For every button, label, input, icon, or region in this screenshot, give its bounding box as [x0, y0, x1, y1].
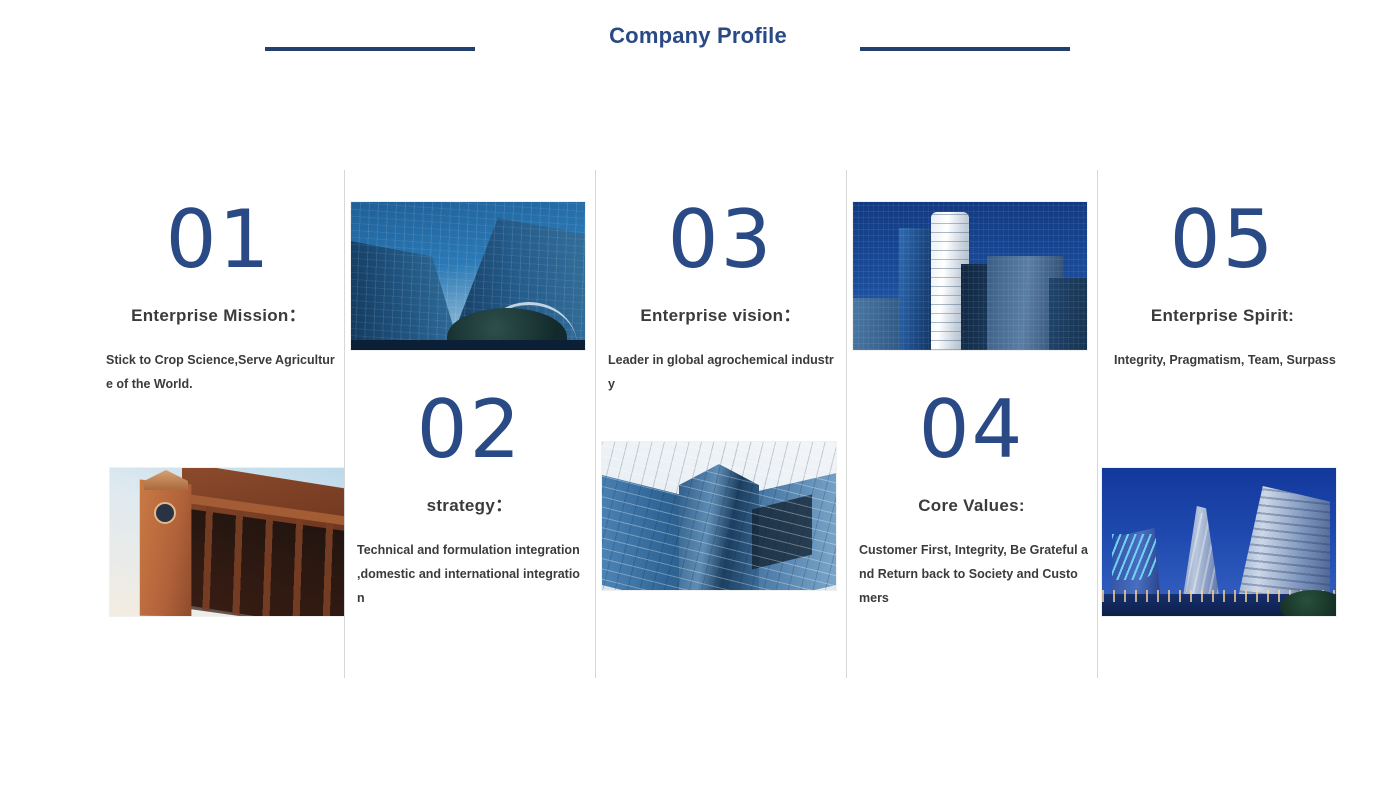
- profile-column-04: 04 Core Values: Customer First, Integrit…: [849, 170, 1094, 678]
- profile-column-03: 03 Enterprise vision： Leader in global a…: [598, 170, 843, 678]
- column-number: 05: [1100, 192, 1345, 288]
- column-text-block: 03 Enterprise vision： Leader in global a…: [598, 192, 843, 396]
- column-body: Stick to Crop Science,Serve Agriculture …: [96, 348, 341, 396]
- column-text-block: 02 strategy： Technical and formulation i…: [347, 382, 592, 610]
- profile-column-01: 01 Enterprise Mission： Stick to Crop Sci…: [96, 170, 341, 678]
- column-number: 02: [347, 382, 592, 478]
- column-divider: [1097, 170, 1098, 678]
- column-heading: Enterprise vision：: [598, 304, 843, 328]
- column-number: 03: [598, 192, 843, 288]
- column-divider: [595, 170, 596, 678]
- column-body: Technical and formulation integration ,d…: [347, 538, 592, 610]
- column-text-block: 01 Enterprise Mission： Stick to Crop Sci…: [96, 192, 341, 396]
- column-divider: [344, 170, 345, 678]
- column-heading: strategy：: [347, 494, 592, 518]
- profile-column-05: 05 Enterprise Spirit: Integrity, Pragmat…: [1100, 170, 1345, 678]
- brick-clock-tower-photo: [110, 468, 344, 616]
- column-body: Integrity, Pragmatism, Team, Surpass: [1100, 348, 1345, 372]
- column-body: Leader in global agrochemical industry: [598, 348, 843, 396]
- column-body: Customer First, Integrity, Be Grateful a…: [849, 538, 1094, 610]
- column-heading: Core Values:: [849, 494, 1094, 518]
- column-text-block: 05 Enterprise Spirit: Integrity, Pragmat…: [1100, 192, 1345, 372]
- twin-glass-towers-photo: [351, 202, 585, 350]
- glass-facade-corner-photo: [602, 442, 836, 590]
- column-number: 04: [849, 382, 1094, 478]
- column-divider: [846, 170, 847, 678]
- profile-column-02: 02 strategy： Technical and formulation i…: [347, 170, 592, 678]
- profile-columns: 01 Enterprise Mission： Stick to Crop Sci…: [96, 170, 1346, 678]
- column-heading: Enterprise Mission：: [96, 304, 341, 328]
- city-skyline-twisted-tower-photo: [853, 202, 1087, 350]
- column-text-block: 04 Core Values: Customer First, Integrit…: [849, 382, 1094, 610]
- column-number: 01: [96, 192, 341, 288]
- column-heading: Enterprise Spirit:: [1100, 304, 1345, 328]
- page-header: Company Profile: [0, 0, 1396, 80]
- night-skyline-photo: [1102, 468, 1336, 616]
- page-title: Company Profile: [0, 22, 1396, 50]
